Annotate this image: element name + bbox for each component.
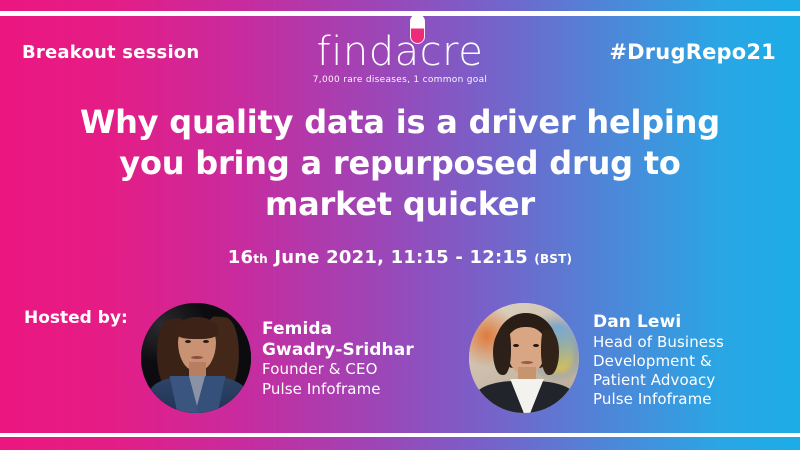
photo-eye-right	[203, 340, 209, 343]
event-month-year: June 2021,	[274, 247, 384, 268]
hosted-by-label: Hosted by:	[24, 308, 128, 328]
speaker-info-femida: Femida Gwadry-Sridhar Founder & CEO Puls…	[262, 319, 462, 399]
bottom-accent-bar	[0, 437, 800, 450]
photo-eye-right	[533, 344, 539, 347]
event-datetime: 16th June 2021, 11:15 - 12:15 (BST)	[228, 247, 572, 268]
event-time-range: 11:15 - 12:15	[391, 247, 528, 268]
speaker-role: Founder & CEO	[262, 360, 462, 379]
event-hashtag: #DrugRepo21	[609, 40, 776, 64]
logo-tagline: 7,000 rare diseases, 1 common goal	[295, 75, 505, 85]
findacure-logo: findacre 7,000 rare diseases, 1 common g…	[295, 32, 505, 85]
page-title: Why quality data is a driver helping you…	[50, 102, 750, 225]
speaker-name-line-1: Dan Lewi	[593, 312, 793, 333]
event-day-suffix: th	[253, 252, 268, 266]
webinar-promo-banner: Breakout session #DrugRepo21 findacre 7,…	[0, 0, 800, 450]
speaker-name-line-1: Femida	[262, 319, 462, 340]
speaker-role-line-2: Development &	[593, 352, 793, 371]
photo-eye-left	[185, 340, 191, 343]
title-line-2: you bring a repurposed drug to	[50, 143, 750, 184]
speaker-organization: Pulse Infoframe	[593, 390, 793, 409]
photo-eye-left	[513, 344, 519, 347]
logo-wordmark: findacre	[317, 32, 484, 72]
breakout-session-label: Breakout session	[22, 42, 199, 63]
main-panel: Breakout session #DrugRepo21 findacre 7,…	[0, 16, 800, 433]
photo-mouth	[521, 361, 533, 364]
speaker-role-line-1: Head of Business	[593, 333, 793, 352]
event-day: 16	[228, 247, 253, 268]
title-line-3: market quicker	[50, 184, 750, 225]
top-accent-bar	[0, 0, 800, 11]
speaker-role-line-3: Patient Advoacy	[593, 371, 793, 390]
logo-wordmark-right: re	[442, 29, 483, 75]
photo-hair-left	[493, 329, 511, 375]
capsule-pill-icon	[410, 16, 425, 44]
title-line-1: Why quality data is a driver helping	[50, 102, 750, 143]
speaker-photo-femida	[141, 303, 251, 413]
speaker-info-dan: Dan Lewi Head of Business Development & …	[593, 312, 793, 409]
speaker-name-line-2: Gwadry-Sridhar	[262, 340, 462, 361]
photo-hair-right	[541, 329, 559, 375]
photo-mouth	[191, 356, 203, 359]
event-timezone: (BST)	[534, 252, 572, 266]
speaker-organization: Pulse Infoframe	[262, 380, 462, 399]
speaker-photo-dan	[469, 303, 579, 413]
